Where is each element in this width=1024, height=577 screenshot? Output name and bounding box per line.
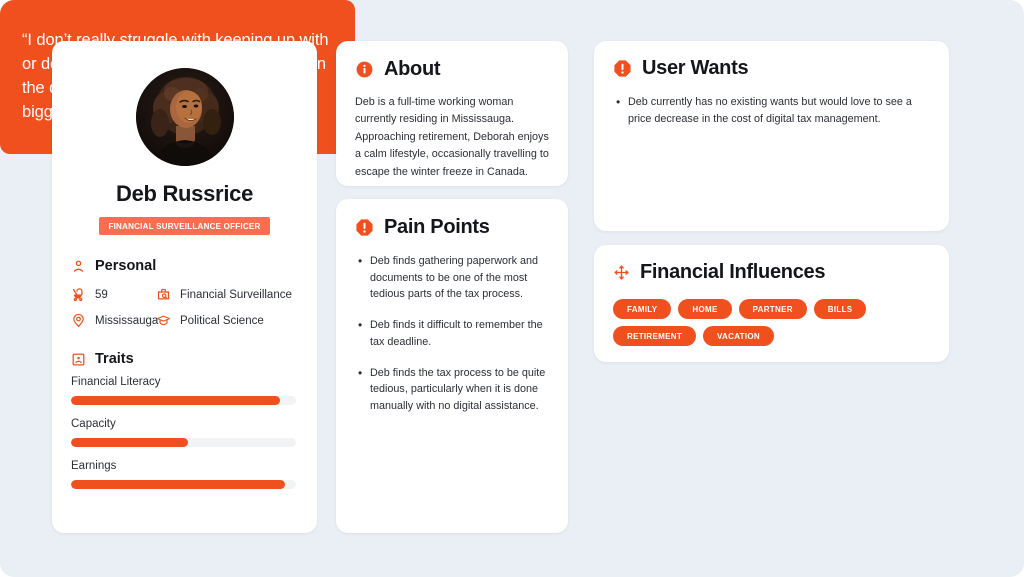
person-icon [71,259,86,274]
traits-heading: Traits [95,351,134,367]
job-title-badge: FINANCIAL SURVEILLANCE OFFICER [99,217,269,235]
trait-label: Financial Literacy [71,376,298,388]
briefcase-search-icon [156,287,171,302]
user-wants-title: User Wants [642,57,748,80]
trait-label: Earnings [71,460,298,472]
trait-progress-track [71,438,296,447]
pain-points-title: Pain Points [384,216,490,239]
exclamation-octagon-icon [355,218,374,237]
pain-points-card-header: Pain Points [355,216,549,239]
avatar [136,68,234,166]
traits-section-header: Traits [71,351,317,367]
user-wants-list: Deb currently has no existing wants but … [613,94,930,127]
trait-progress-track [71,396,296,405]
user-wants-card-header: User Wants [613,57,930,80]
id-badge-icon [71,352,86,367]
influence-tag[interactable]: VACATION [703,326,774,346]
fact-occupation: Financial Surveillance [156,287,292,302]
exclamation-octagon-icon [613,59,632,78]
fact-row-location-education: Mississauga Political Science [71,313,297,328]
fact-education: Political Science [156,313,264,328]
about-text: Deb is a full-time working woman current… [355,94,549,181]
trait-item: Capacity [71,418,298,447]
pain-point-item: Deb finds it difficult to remember the t… [370,317,549,350]
person-name: Deb Russrice [52,181,317,207]
about-card-header: About [355,58,549,81]
age-value: 59 [95,289,108,301]
about-card: About Deb is a full-time working woman c… [336,41,568,186]
influence-tag[interactable]: FAMILY [613,299,671,319]
map-pin-icon [71,313,86,328]
info-circle-icon [355,60,374,79]
trait-progress-fill [71,480,285,489]
profile-card: Deb Russrice FINANCIAL SURVEILLANCE OFFI… [52,41,317,533]
trait-progress-track [71,480,296,489]
financial-influences-tags: FAMILY HOME PARTNER BILLS RETIREMENT VAC… [613,299,913,346]
fact-location: Mississauga [71,313,156,328]
trait-progress-fill [71,396,280,405]
personal-section-header: Personal [71,258,317,274]
user-want-item: Deb currently has no existing wants but … [628,94,930,127]
trait-item: Financial Literacy [71,376,298,405]
occupation-value: Financial Surveillance [180,289,292,301]
location-value: Mississauga [95,315,158,327]
user-wants-card: User Wants Deb currently has no existing… [594,41,949,231]
education-value: Political Science [180,315,264,327]
financial-influences-card: Financial Influences FAMILY HOME PARTNER… [594,245,949,362]
influence-tag[interactable]: BILLS [814,299,867,319]
move-arrows-icon [613,264,630,281]
trait-item: Earnings [71,460,298,489]
fact-row-age-occupation: 59 Financial Surveillance [71,287,297,302]
influence-tag[interactable]: PARTNER [739,299,807,319]
persona-page: Deb Russrice FINANCIAL SURVEILLANCE OFFI… [0,0,1024,577]
pain-points-list: Deb finds gathering paperwork and docume… [355,253,549,415]
financial-influences-card-header: Financial Influences [613,261,930,284]
fact-age: 59 [71,287,156,302]
financial-influences-title: Financial Influences [640,261,825,284]
personal-heading: Personal [95,258,156,274]
traits-list: Financial Literacy Capacity Earnings [71,376,298,489]
pain-points-card: Pain Points Deb finds gathering paperwor… [336,199,568,533]
influence-tag[interactable]: HOME [678,299,731,319]
graduation-cap-icon [156,313,171,328]
pain-point-item: Deb finds gathering paperwork and docume… [370,253,549,303]
about-title: About [384,58,440,81]
influence-tag[interactable]: RETIREMENT [613,326,696,346]
trait-progress-fill [71,438,188,447]
avatar-wrapper [52,68,317,166]
personal-facts: 59 Financial Surveillance [71,287,297,328]
job-badge-row: FINANCIAL SURVEILLANCE OFFICER [52,217,317,235]
stroller-icon [71,287,86,302]
trait-label: Capacity [71,418,298,430]
pain-point-item: Deb finds the tax process to be quite te… [370,365,549,415]
